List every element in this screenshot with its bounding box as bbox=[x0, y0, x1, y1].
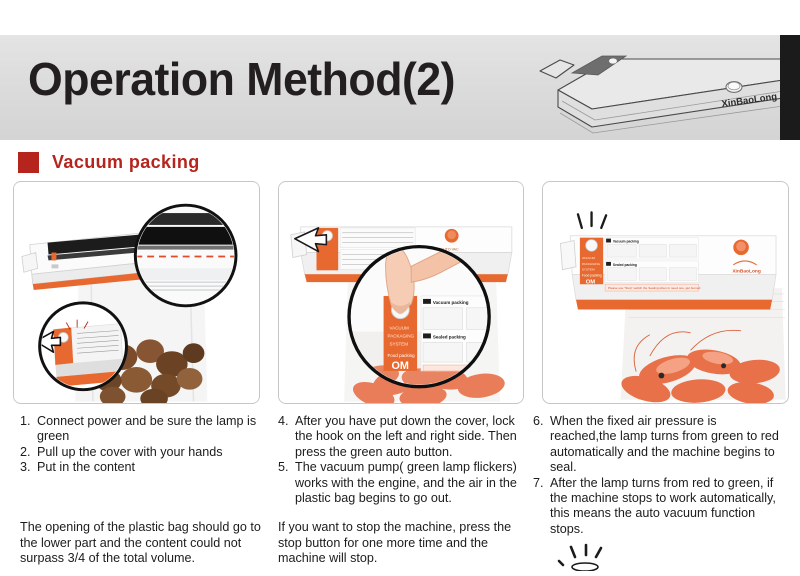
column-2-note: If you want to stop the machine, press t… bbox=[278, 520, 526, 567]
step-number: 3. bbox=[20, 460, 31, 475]
step-list-1: 1. Connect power and be sure the lamp is… bbox=[20, 414, 268, 476]
svg-text:Food packing: Food packing bbox=[582, 273, 602, 277]
svg-text:Sealed packing: Sealed packing bbox=[433, 334, 466, 339]
panel-connect-power bbox=[13, 181, 260, 404]
list-item: 1. Connect power and be sure the lamp is… bbox=[20, 414, 268, 445]
step-list-2: 4. After you have put down the cover, lo… bbox=[278, 414, 526, 506]
panel-sealing-complete-image: VACUUM PACKAGING SYSTEM Food packing OM … bbox=[543, 182, 788, 403]
svg-text:VACUUM: VACUUM bbox=[389, 325, 408, 330]
step-number: 5. bbox=[278, 460, 289, 475]
step-text: After you have put down the cover, lock … bbox=[295, 414, 517, 459]
step-text: Pull up the cover with your hands bbox=[37, 445, 223, 459]
svg-text:Food packing: Food packing bbox=[387, 353, 415, 358]
sealer-machine-illustration: XinBaoLong ™ bbox=[500, 35, 790, 140]
step-list-3: 6. When the fixed air pressure is reache… bbox=[533, 414, 783, 537]
step-number: 1. bbox=[20, 414, 31, 429]
step-number: 7. bbox=[533, 476, 544, 491]
step-number: 4. bbox=[278, 414, 289, 429]
step-text: The vacuum pump( green lamp flickers) wo… bbox=[295, 460, 517, 505]
column-1-note: The opening of the plastic bag should go… bbox=[20, 520, 268, 567]
svg-text:PACKAGING: PACKAGING bbox=[582, 262, 601, 266]
svg-text:Please use "Stop" switch the S: Please use "Stop" switch the Sealing whe… bbox=[608, 286, 701, 290]
instruction-column-3: 6. When the fixed air pressure is reache… bbox=[533, 414, 783, 537]
section-color-swatch bbox=[18, 152, 39, 173]
svg-text:OM: OM bbox=[586, 279, 596, 285]
svg-text:SYSTEM: SYSTEM bbox=[389, 341, 408, 346]
svg-text:VACUUM: VACUUM bbox=[582, 256, 596, 260]
svg-text:Vacuum packing: Vacuum packing bbox=[613, 239, 639, 243]
step-text: Connect power and be sure the lamp is gr… bbox=[37, 414, 256, 443]
instruction-text-columns: 1. Connect power and be sure the lamp is… bbox=[0, 414, 800, 571]
photo-panel-row: AUTO VAC bbox=[13, 181, 789, 404]
svg-text:PACKAGING: PACKAGING bbox=[387, 333, 414, 338]
svg-text:SYSTEM: SYSTEM bbox=[582, 268, 595, 272]
step-text: Put in the content bbox=[37, 460, 135, 474]
svg-text:OM: OM bbox=[391, 360, 408, 372]
section-title: Vacuum packing bbox=[52, 152, 200, 173]
svg-text:Vacuum packing: Vacuum packing bbox=[433, 300, 469, 305]
panel-press-auto-button: AUTO VAC bbox=[278, 181, 525, 404]
instruction-column-1: 1. Connect power and be sure the lamp is… bbox=[20, 414, 268, 476]
instruction-column-2: 4. After you have put down the cover, lo… bbox=[278, 414, 526, 506]
list-item: 6. When the fixed air pressure is reache… bbox=[533, 414, 783, 476]
panel-sealing-complete: VACUUM PACKAGING SYSTEM Food packing OM … bbox=[542, 181, 789, 404]
list-item: 2. Pull up the cover with your hands bbox=[20, 445, 268, 460]
section-header: Vacuum packing bbox=[18, 152, 200, 173]
list-item: 3. Put in the content bbox=[20, 460, 268, 475]
list-item: 7. After the lamp turns from red to gree… bbox=[533, 476, 783, 538]
svg-text:XinBaoLong: XinBaoLong bbox=[733, 269, 762, 275]
list-item: 5. The vacuum pump( green lamp flickers)… bbox=[278, 460, 526, 506]
header-dark-edge bbox=[780, 35, 800, 140]
step-number: 2. bbox=[20, 445, 31, 460]
bottom-flashing-lamp-icon bbox=[553, 543, 623, 571]
page-title: Operation Method(2) bbox=[28, 52, 455, 106]
panel-connect-power-image bbox=[14, 182, 259, 403]
svg-text:Sealed packing: Sealed packing bbox=[613, 263, 637, 267]
step-text: After the lamp turns from red to green, … bbox=[550, 476, 776, 536]
step-number: 6. bbox=[533, 414, 544, 429]
panel-press-auto-button-image: AUTO VAC bbox=[279, 182, 524, 403]
magnifier-inset-sealing-strip bbox=[135, 205, 236, 306]
step-text: When the fixed air pressure is reached,t… bbox=[550, 414, 779, 474]
list-item: 4. After you have put down the cover, lo… bbox=[278, 414, 526, 460]
